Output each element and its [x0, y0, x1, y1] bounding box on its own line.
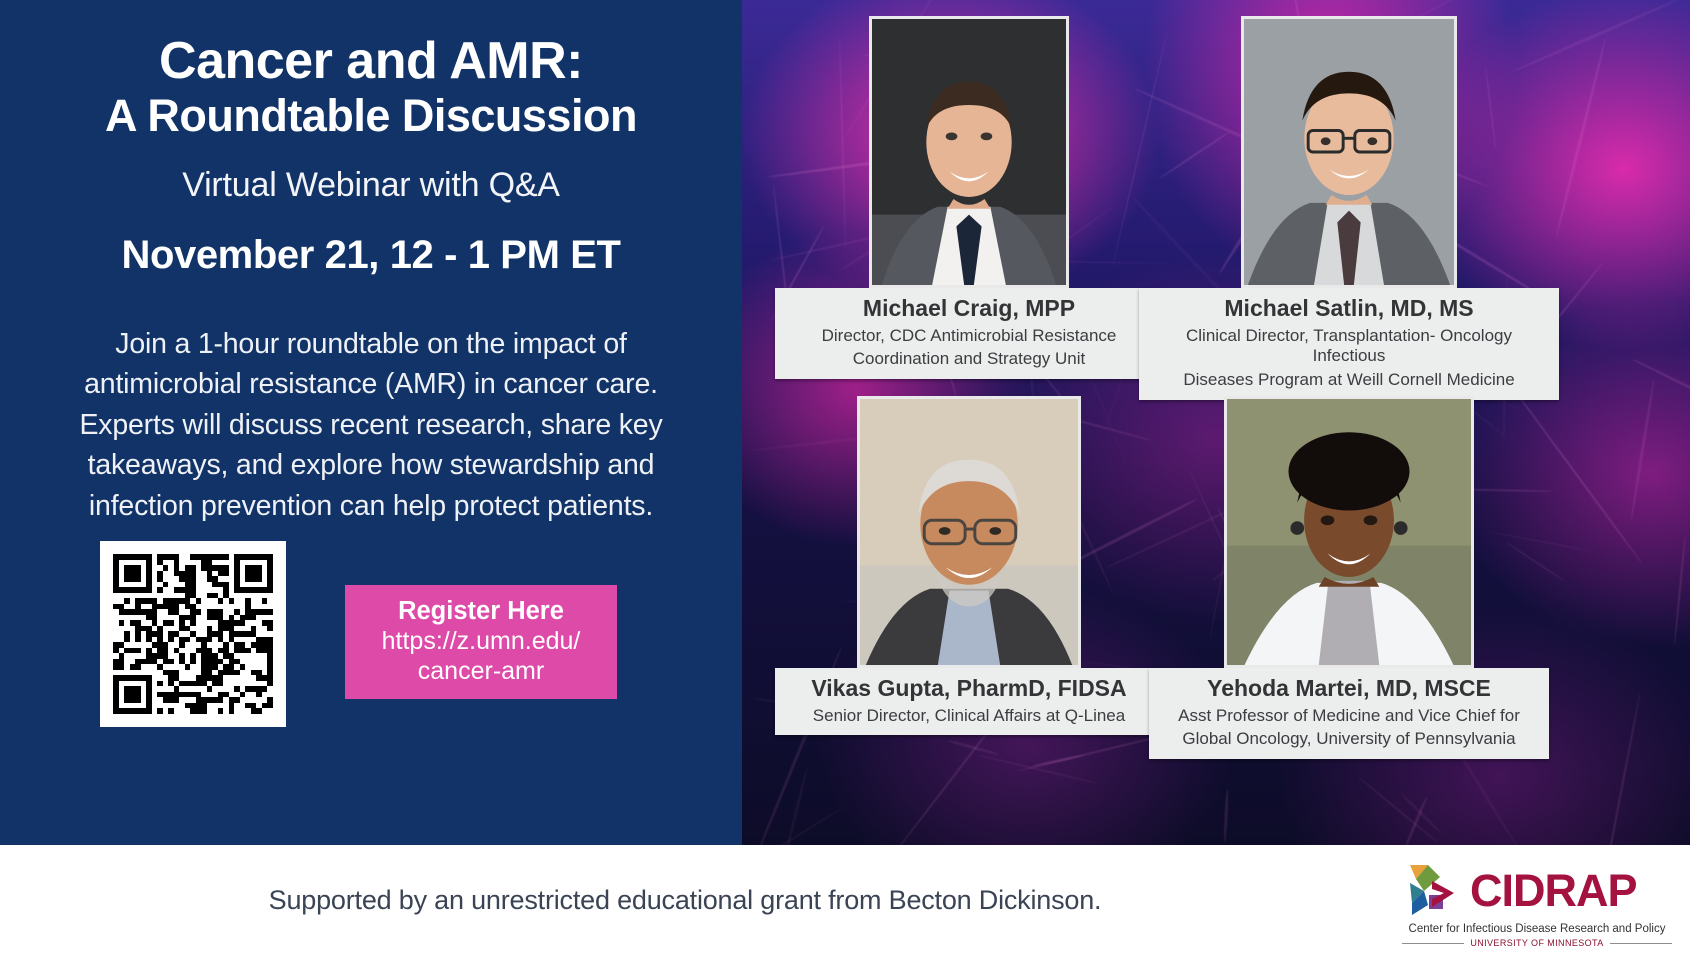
register-label: Register Here	[355, 596, 607, 626]
register-url-line2: cancer-amr	[355, 656, 607, 686]
headshot-gupta	[860, 399, 1078, 665]
info-panel: Cancer and AMR: A Roundtable Discussion …	[0, 0, 742, 845]
speaker-plate-satlin: Michael Satlin, MD, MS Clinical Director…	[1139, 288, 1559, 400]
cidrap-university-row: UNIVERSITY OF MINNESOTA	[1402, 938, 1672, 948]
speaker-card-martei: Yehoda Martei, MD, MSCE Asst Professor o…	[1149, 396, 1549, 759]
speaker-card-gupta: Vikas Gupta, PharmD, FIDSA Senior Direct…	[775, 396, 1163, 735]
speaker-plate-craig: Michael Craig, MPP Director, CDC Antimic…	[775, 288, 1163, 379]
speaker-role-line1: Asst Professor of Medicine and Vice Chie…	[1161, 706, 1537, 727]
headshot-craig	[872, 19, 1066, 285]
speaker-role-line1: Director, CDC Antimicrobial Resistance	[787, 326, 1151, 347]
qr-code[interactable]	[100, 541, 286, 727]
speaker-photo-satlin	[1241, 16, 1457, 288]
speaker-card-craig: Michael Craig, MPP Director, CDC Antimic…	[775, 16, 1163, 379]
call-to-action-row: Register Here https://z.umn.edu/ cancer-…	[42, 533, 702, 733]
speaker-photo-martei	[1224, 396, 1474, 668]
rule-left	[1402, 943, 1464, 944]
speaker-plate-gupta: Vikas Gupta, PharmD, FIDSA Senior Direct…	[775, 668, 1163, 735]
speaker-role-line1: Senior Director, Clinical Affairs at Q-L…	[787, 706, 1151, 727]
cidrap-wordmark: CIDRAP	[1470, 868, 1637, 913]
qr-code-matrix	[113, 554, 273, 714]
footer: Supported by an unrestricted educational…	[0, 845, 1690, 956]
register-url-line1: https://z.umn.edu/	[355, 626, 607, 656]
cidrap-university: UNIVERSITY OF MINNESOTA	[1470, 938, 1603, 948]
rule-right	[1610, 943, 1672, 944]
speaker-card-satlin: Michael Satlin, MD, MS Clinical Director…	[1139, 16, 1559, 400]
headshot-satlin	[1244, 19, 1454, 285]
main-area: Cancer and AMR: A Roundtable Discussion …	[0, 0, 1690, 845]
webinar-poster: Cancer and AMR: A Roundtable Discussion …	[0, 0, 1690, 956]
headshot-martei	[1227, 399, 1471, 665]
speaker-role-line1: Clinical Director, Transplantation- Onco…	[1151, 326, 1547, 367]
cidrap-tagline: Center for Infectious Disease Research a…	[1402, 923, 1672, 935]
speaker-name: Michael Craig, MPP	[787, 295, 1151, 323]
speaker-role-line2: Coordination and Strategy Unit	[787, 349, 1151, 370]
speaker-name: Vikas Gupta, PharmD, FIDSA	[787, 675, 1151, 703]
webinar-format-label: Virtual Webinar with Q&A	[42, 166, 700, 205]
speaker-name: Yehoda Martei, MD, MSCE	[1161, 675, 1537, 703]
speaker-plate-martei: Yehoda Martei, MD, MSCE Asst Professor o…	[1149, 668, 1549, 759]
page-title-line2: A Roundtable Discussion	[42, 92, 700, 140]
register-button[interactable]: Register Here https://z.umn.edu/ cancer-…	[345, 585, 617, 699]
cidrap-logo: CIDRAP Center for Infectious Disease Res…	[1402, 859, 1672, 945]
cidrap-mark-icon	[1402, 859, 1464, 921]
speaker-role-line2: Global Oncology, University of Pennsylva…	[1161, 729, 1537, 750]
speaker-role-line2: Diseases Program at Weill Cornell Medici…	[1151, 370, 1547, 391]
event-description: Join a 1-hour roundtable on the impact o…	[42, 324, 700, 526]
speaker-name: Michael Satlin, MD, MS	[1151, 295, 1547, 323]
support-statement: Supported by an unrestricted educational…	[0, 845, 1370, 956]
speaker-photo-craig	[869, 16, 1069, 288]
speaker-photo-gupta	[857, 396, 1081, 668]
page-title-line1: Cancer and AMR:	[42, 34, 700, 88]
event-datetime: November 21, 12 - 1 PM ET	[42, 233, 700, 278]
speakers-panel: Michael Craig, MPP Director, CDC Antimic…	[742, 0, 1690, 845]
